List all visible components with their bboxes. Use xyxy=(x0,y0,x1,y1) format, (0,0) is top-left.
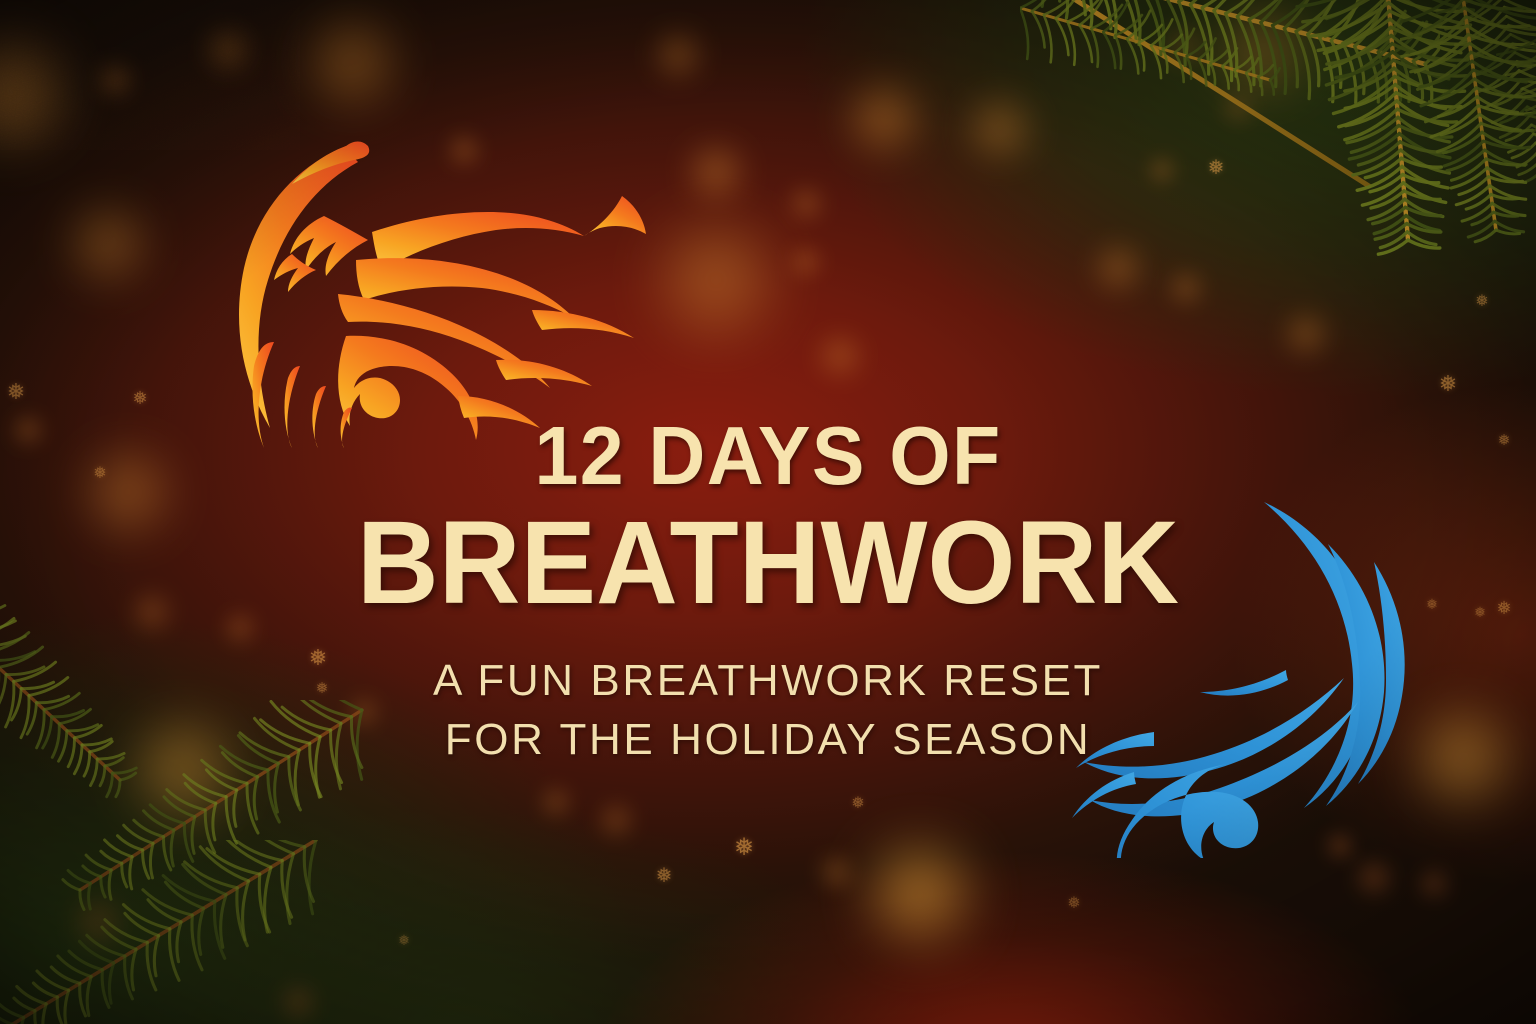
poster-text-block: 12 DAYS OF BREATHWORK A FUN BREATHWORK R… xyxy=(0,414,1536,769)
subtitle-line-2: FOR THE HOLIDAY SEASON xyxy=(0,711,1536,770)
subtitle-line-1: A FUN BREATHWORK RESET xyxy=(0,652,1536,711)
headline-main: BREATHWORK xyxy=(31,501,1506,626)
promo-poster: ❅❅❅❅❅❅❅❅❅❅❅❅❅❅❅❅❅ xyxy=(0,0,1536,1024)
flame-phoenix-icon xyxy=(196,128,656,448)
headline-top: 12 DAYS OF xyxy=(38,414,1497,497)
